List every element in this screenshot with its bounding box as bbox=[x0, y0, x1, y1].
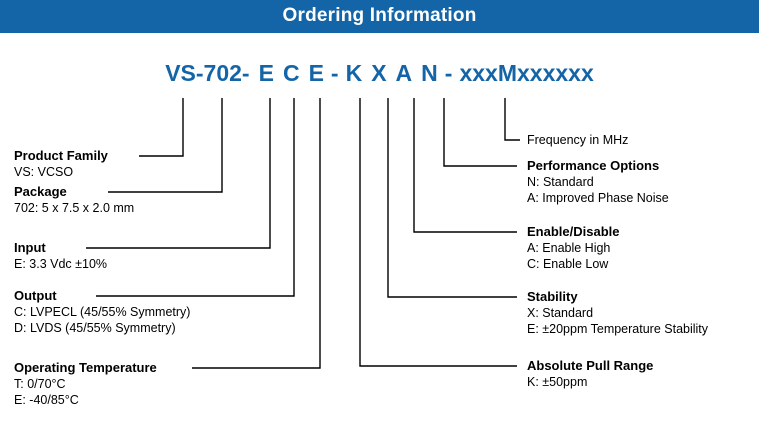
callout-title: Product Family bbox=[14, 148, 108, 164]
ordering-information-page: Ordering Information VS-702-ECE-KXAN-xxx… bbox=[0, 0, 759, 426]
callout-line: X: Standard bbox=[527, 305, 708, 321]
callout-line: E: 3.3 Vdc ±10% bbox=[14, 256, 107, 272]
callout-frequency: Frequency in MHz bbox=[527, 132, 628, 148]
callout-line: 702: 5 x 7.5 x 2.0 mm bbox=[14, 200, 134, 216]
callout-enable-disable: Enable/Disable A: Enable High C: Enable … bbox=[527, 224, 619, 272]
callout-stability: Stability X: Standard E: ±20ppm Temperat… bbox=[527, 289, 708, 337]
callout-line: A: Improved Phase Noise bbox=[527, 190, 669, 206]
callout-output: Output C: LVPECL (45/55% Symmetry) D: LV… bbox=[14, 288, 190, 336]
callout-product-family: Product Family VS: VCSO bbox=[14, 148, 108, 180]
callout-package: Package 702: 5 x 7.5 x 2.0 mm bbox=[14, 184, 134, 216]
callout-title: Input bbox=[14, 240, 107, 256]
callout-line: D: LVDS (45/55% Symmetry) bbox=[14, 320, 190, 336]
callout-line: VS: VCSO bbox=[14, 164, 108, 180]
callout-title: Output bbox=[14, 288, 190, 304]
callout-performance-options: Performance Options N: Standard A: Impro… bbox=[527, 158, 669, 206]
callout-title: Package bbox=[14, 184, 134, 200]
callout-input: Input E: 3.3 Vdc ±10% bbox=[14, 240, 107, 272]
callout-line: N: Standard bbox=[527, 174, 669, 190]
callout-line: E: -40/85°C bbox=[14, 392, 157, 408]
callout-line: E: ±20ppm Temperature Stability bbox=[527, 321, 708, 337]
callout-title: Stability bbox=[527, 289, 708, 305]
callout-title: Enable/Disable bbox=[527, 224, 619, 240]
callout-title: Absolute Pull Range bbox=[527, 358, 653, 374]
callout-line: A: Enable High bbox=[527, 240, 619, 256]
callout-title: Performance Options bbox=[527, 158, 669, 174]
callout-line: C: Enable Low bbox=[527, 256, 619, 272]
callout-title: Operating Temperature bbox=[14, 360, 157, 376]
callout-absolute-pull-range: Absolute Pull Range K: ±50ppm bbox=[527, 358, 653, 390]
callout-line: K: ±50ppm bbox=[527, 374, 653, 390]
callout-operating-temperature: Operating Temperature T: 0/70°C E: -40/8… bbox=[14, 360, 157, 408]
callout-line: T: 0/70°C bbox=[14, 376, 157, 392]
callout-line: C: LVPECL (45/55% Symmetry) bbox=[14, 304, 190, 320]
callout-title: Frequency in MHz bbox=[527, 132, 628, 148]
